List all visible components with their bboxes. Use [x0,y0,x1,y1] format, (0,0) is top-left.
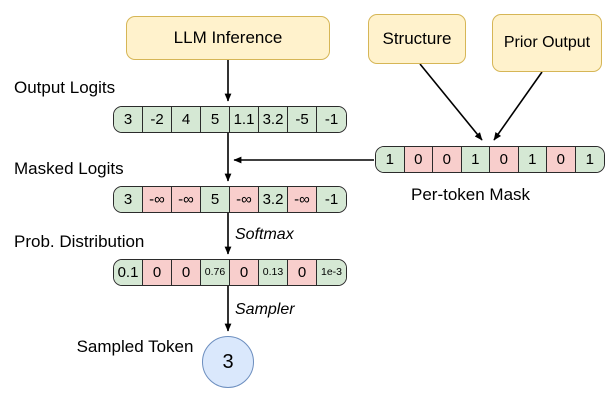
vector-cell: 0.76 [201,260,230,285]
diagram-canvas: LLM Inference Structure Prior Output Out… [0,0,616,409]
vector-cell: 0 [172,260,201,285]
vector-cell: 1 [576,147,605,172]
vector-cell: -1 [317,107,346,132]
vector-cell: 5 [201,107,230,132]
vector-cell: 0 [230,260,259,285]
vector-cell: 0 [405,147,434,172]
vector-cell: -2 [143,107,172,132]
vector-cell: 4 [172,107,201,132]
softmax-operation-label: Softmax [235,226,294,244]
output-logits-label: Output Logits [14,79,115,98]
vector-cell: 0 [547,147,576,172]
vector-cell: -∞ [143,187,172,212]
vector-cell: 1 [519,147,548,172]
arrow-prior-to-mask [494,72,542,140]
vector-cell: 3 [114,107,143,132]
per-token-mask-vector: 10010101 [375,146,605,173]
vector-cell: 0.1 [114,260,143,285]
vector-cell: 0 [433,147,462,172]
llm-inference-box[interactable]: LLM Inference [126,16,330,60]
llm-inference-label: LLM Inference [174,29,283,47]
vector-cell: 0 [143,260,172,285]
vector-cell: -5 [288,107,317,132]
prior-output-label: Prior Output [504,35,590,52]
vector-cell: 1 [376,147,405,172]
structure-label: Structure [383,30,452,48]
prob-distribution-label: Prob. Distribution [14,233,144,252]
sampled-token-circle[interactable]: 3 [202,336,254,388]
masked-logits-vector: 3-∞-∞5-∞3.2-∞-1 [113,186,347,213]
vector-cell: 0 [288,260,317,285]
output-logits-vector: 3-2451.13.2-5-1 [113,106,347,133]
prior-output-box[interactable]: Prior Output [492,14,602,72]
vector-cell: -∞ [288,187,317,212]
vector-cell: 1 [462,147,491,172]
vector-cell: 0 [490,147,519,172]
vector-cell: 1.1 [230,107,259,132]
vector-cell: -1 [317,187,346,212]
vector-cell: 5 [201,187,230,212]
masked-logits-label: Masked Logits [14,160,124,179]
vector-cell: 0.13 [259,260,288,285]
sampler-operation-label: Sampler [235,301,295,319]
vector-cell: 3 [114,187,143,212]
per-token-mask-label: Per-token Mask [411,186,530,205]
vector-cell: 1e-3 [317,260,346,285]
vector-cell: 3.2 [259,187,288,212]
prob-distribution-vector: 0.1000.7600.1301e-3 [113,259,347,286]
vector-cell: -∞ [172,187,201,212]
vector-cell: -∞ [230,187,259,212]
structure-box[interactable]: Structure [368,14,466,64]
sampled-token-label: Sampled Token [76,338,194,357]
sampled-token-value: 3 [222,351,233,374]
arrow-structure-to-mask [420,64,482,140]
vector-cell: 3.2 [259,107,288,132]
